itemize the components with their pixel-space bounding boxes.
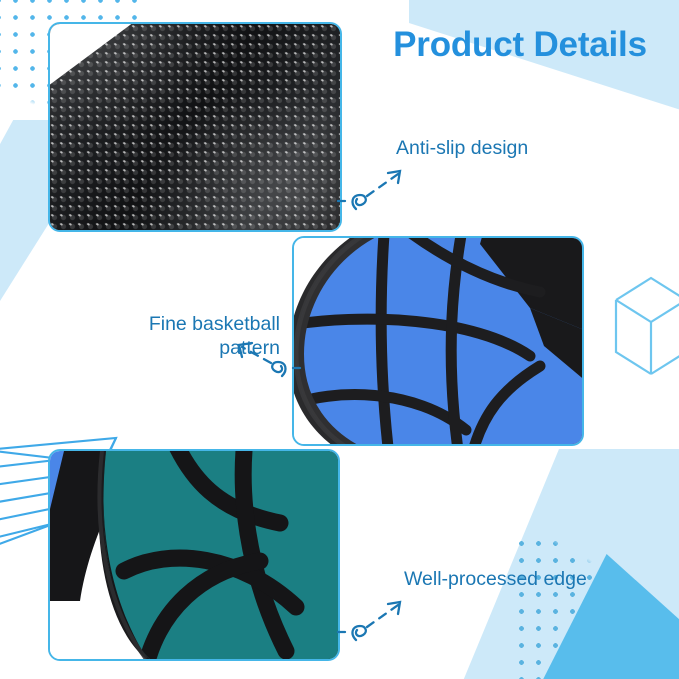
angled-band-top-right-decoration bbox=[409, 0, 679, 140]
isometric-cube-decoration bbox=[612, 272, 679, 380]
page-title: Product Details bbox=[380, 26, 660, 65]
label-anti-slip-design: Anti-slip design bbox=[396, 136, 528, 160]
basketball-pattern-photo bbox=[294, 238, 582, 444]
label-line-1: Fine basketball bbox=[149, 313, 280, 335]
product-details-infographic: Product Details bbox=[0, 0, 679, 679]
dot-grid-bottom-right-decoration bbox=[513, 535, 679, 679]
photo-card-well-processed-edge bbox=[48, 449, 340, 661]
photo-card-anti-slip bbox=[48, 22, 342, 232]
label-well-processed-edge: Well-processed edge bbox=[404, 567, 587, 591]
anti-slip-texture-photo bbox=[50, 24, 340, 230]
angled-band-bottom-right-decoration bbox=[439, 449, 679, 679]
dashed-arrow-up-right-icon-edge bbox=[336, 594, 408, 646]
edge-detail-photo bbox=[50, 451, 338, 659]
dashed-arrow-up-right-icon-anti-slip bbox=[336, 163, 408, 215]
photo-card-basketball-pattern bbox=[292, 236, 584, 446]
dashed-arrow-left-icon-pattern bbox=[226, 336, 302, 386]
